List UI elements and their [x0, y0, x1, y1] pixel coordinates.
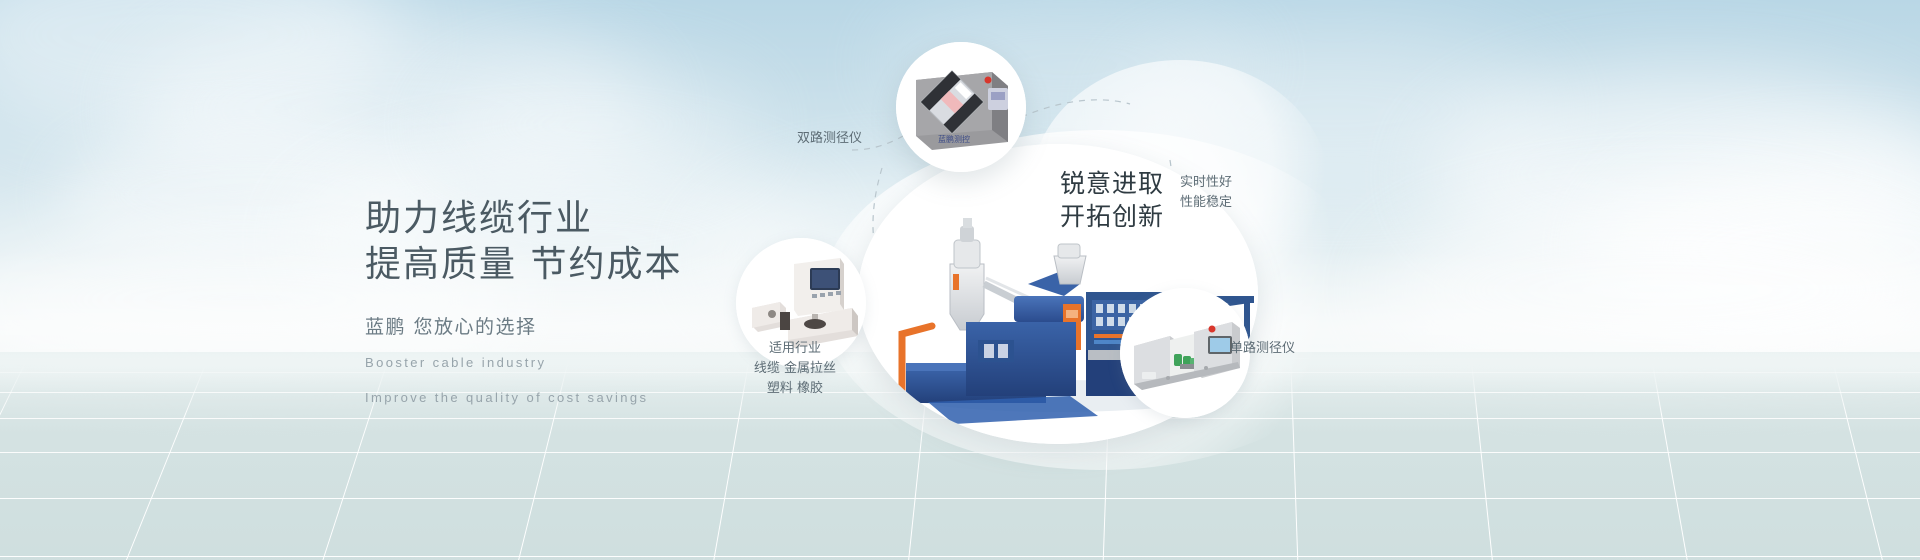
label-stable: 性能稳定 — [1180, 192, 1232, 213]
cloud-shape — [0, 0, 400, 140]
hero-banner: 助力线缆行业 提高质量 节约成本 蓝鹏 您放心的选择 Booster cable… — [0, 0, 1920, 560]
label-single-gauge: 单路测径仪 — [1230, 338, 1295, 359]
label-dual-gauge: 双路测径仪 — [700, 128, 862, 149]
dual-gauge-image: 蓝鹏测控 — [896, 42, 1026, 172]
bubble-dual-gauge[interactable]: 蓝鹏测控 — [896, 42, 1026, 172]
label-industry-line-2: 塑料 橡胶 — [710, 378, 880, 399]
label-industry-title: 适用行业 — [710, 338, 880, 359]
cloud-shape — [130, 10, 650, 210]
slogan-line-2: 开拓创新 — [1032, 200, 1192, 234]
slogan-line-1: 锐意进取 — [1032, 167, 1192, 201]
label-industry-line-1: 线缆 金属拉丝 — [710, 358, 880, 379]
dual-gauge-brand-text: 蓝鹏测控 — [938, 134, 970, 144]
product-composition: 蓝鹏测控 — [700, 0, 1920, 560]
label-realtime: 实时性好 — [1180, 172, 1232, 193]
